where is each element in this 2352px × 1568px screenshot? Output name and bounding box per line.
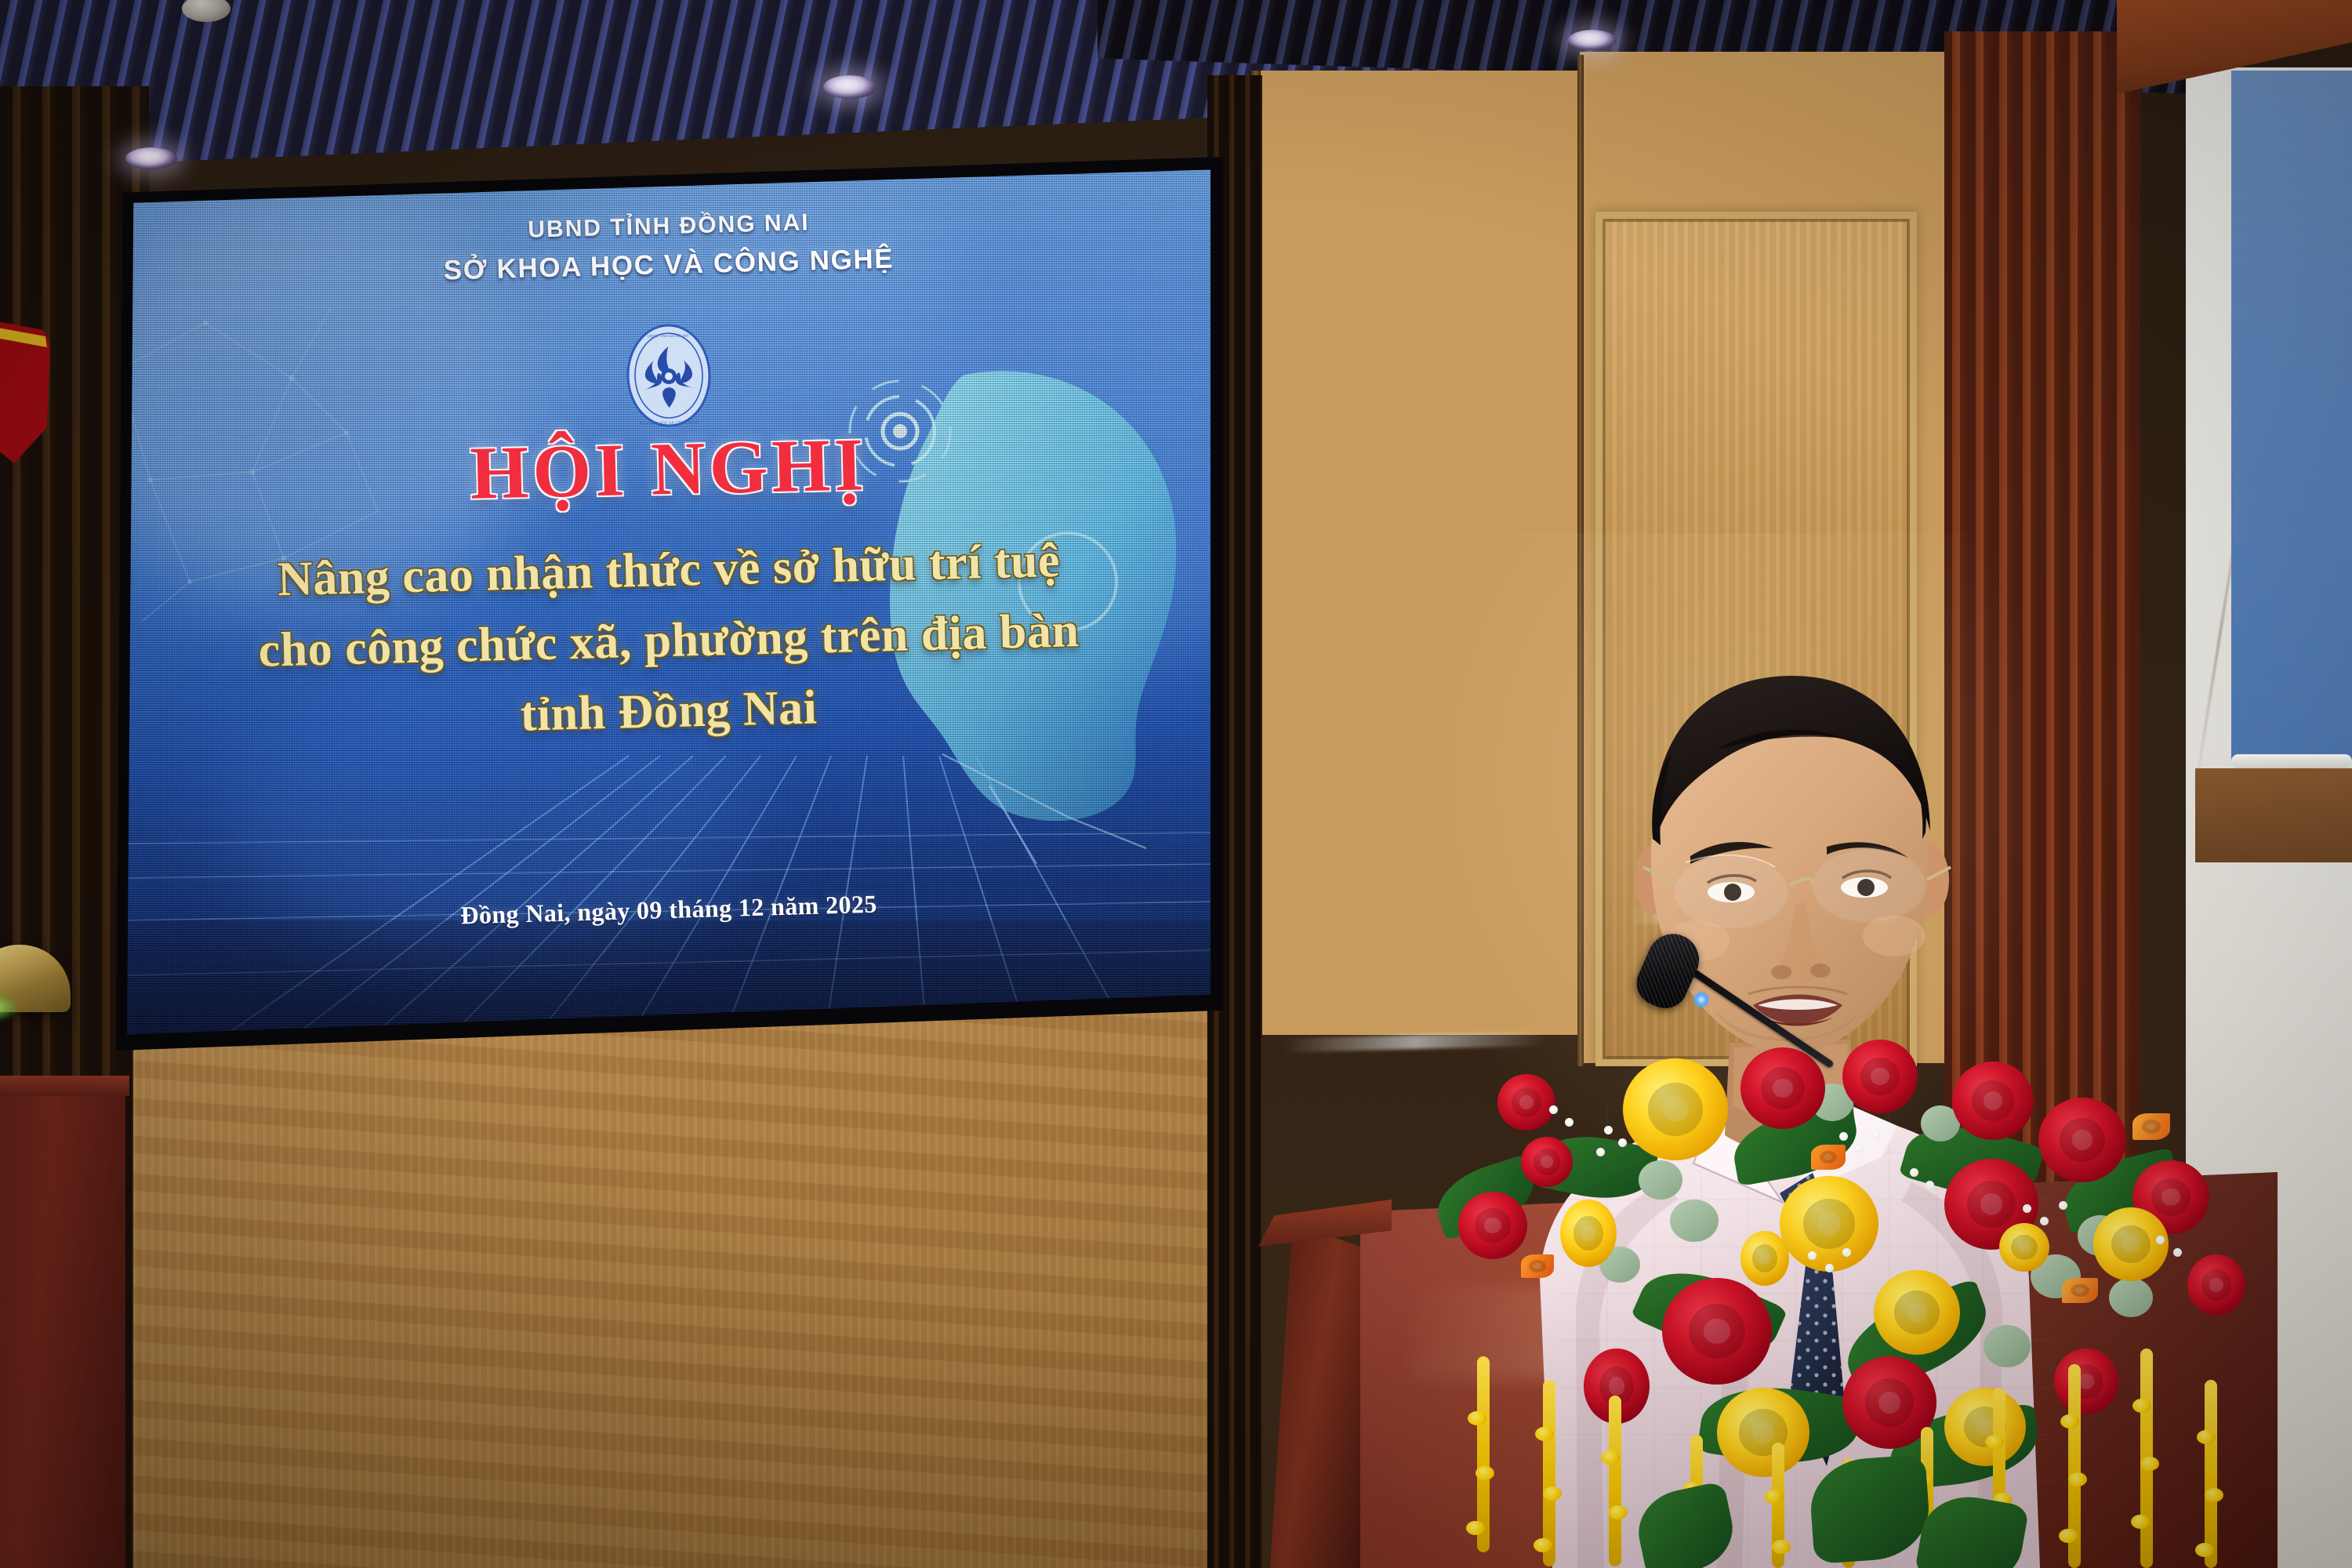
red-rose xyxy=(1662,1278,1772,1385)
babys-breath xyxy=(2059,1201,2067,1210)
wood-wall-panel-lower xyxy=(133,1004,1231,1568)
microphone-indicator-led xyxy=(1693,992,1709,1007)
yellow-rose xyxy=(1780,1176,1878,1272)
red-rose xyxy=(1521,1137,1573,1187)
cascade-bud xyxy=(2195,1543,2214,1557)
cascade-bud xyxy=(1772,1540,1791,1554)
babys-breath xyxy=(1808,1251,1817,1260)
side-lectern xyxy=(0,1086,125,1568)
babys-breath xyxy=(2023,1204,2031,1213)
babys-breath xyxy=(1618,1138,1627,1147)
babys-breath xyxy=(1839,1132,1848,1141)
cascade-bud xyxy=(1534,1538,1552,1552)
cascade-bud xyxy=(1466,1521,1485,1535)
cascade-bud xyxy=(2131,1515,2150,1529)
babys-breath xyxy=(2173,1248,2182,1257)
cascade-bud xyxy=(1468,1411,1486,1425)
babys-breath xyxy=(1872,1131,1881,1139)
babys-breath xyxy=(1565,1118,1573,1127)
leaf xyxy=(1808,1454,1933,1564)
yellow-rose xyxy=(1999,1223,2049,1272)
babys-breath xyxy=(2156,1236,2165,1244)
cascade-bud xyxy=(1985,1435,2004,1449)
eucalyptus-leaf xyxy=(1670,1200,1719,1242)
babys-breath xyxy=(2040,1217,2049,1225)
cascade-bud xyxy=(2197,1430,2216,1444)
yellow-rose xyxy=(1740,1231,1789,1286)
babys-breath xyxy=(1910,1168,1918,1177)
yellow-rose xyxy=(2093,1207,2169,1281)
orange-accent-flower xyxy=(1521,1254,1554,1278)
red-rose xyxy=(1458,1192,1527,1259)
cascade-bud xyxy=(2140,1457,2159,1471)
recessed-downlight xyxy=(125,147,177,169)
cascade-bud xyxy=(2068,1472,2087,1486)
cascade-bud xyxy=(2059,1529,2078,1543)
cascade-stem xyxy=(1609,1396,1621,1566)
yellow-rose xyxy=(1560,1200,1617,1267)
babys-breath xyxy=(1825,1264,1834,1272)
orange-accent-flower xyxy=(2132,1113,2170,1140)
window-lower-opening xyxy=(2195,768,2352,862)
red-rose xyxy=(2038,1098,2126,1182)
eucalyptus-leaf xyxy=(1639,1160,1682,1200)
cascade-bud xyxy=(1475,1466,1494,1480)
cascade-bud xyxy=(2205,1488,2223,1502)
yellow-rose xyxy=(1717,1388,1809,1477)
cascade-bud xyxy=(2132,1399,2151,1413)
babys-breath xyxy=(1842,1248,1851,1257)
red-rose xyxy=(1842,1040,1918,1113)
orange-accent-flower xyxy=(2062,1278,2098,1303)
podium-flower-arrangement xyxy=(1403,1019,2281,1568)
led-presentation-screen[interactable]: UBND TỈNH ĐỒNG NAI SỞ KHOA HỌC VÀ CÔNG N… xyxy=(127,166,1210,1038)
babys-breath xyxy=(1549,1105,1558,1114)
red-rose xyxy=(1952,1062,2034,1140)
recessed-downlight xyxy=(823,75,877,99)
cascade-bud xyxy=(1609,1505,1628,1519)
side-lectern-top xyxy=(0,1076,129,1096)
dong-nai-science-technology-emblem: UBND TỈNH ĐỒNG NAI SỞ KHOA HỌC VÀ CÔNG N… xyxy=(622,319,716,432)
eucalyptus-leaf xyxy=(2109,1278,2153,1317)
babys-breath xyxy=(1926,1181,1934,1189)
cascade-bud xyxy=(1535,1427,1554,1441)
cascade-bud xyxy=(1601,1450,1620,1465)
conference-room-scene: UBND TỈNH ĐỒNG NAI SỞ KHOA HỌC VÀ CÔNG N… xyxy=(0,0,2352,1568)
recessed-downlight xyxy=(1568,30,1617,50)
babys-breath xyxy=(1604,1126,1613,1134)
babys-breath xyxy=(1855,1145,1864,1153)
red-rose xyxy=(1740,1047,1825,1129)
cascade-bud xyxy=(1764,1490,1783,1504)
svg-text:UBND TỈNH ĐỒNG NAI: UBND TỈNH ĐỒNG NAI xyxy=(647,333,688,339)
cascade-stem xyxy=(2205,1380,2217,1568)
vietnam-flag xyxy=(0,310,55,482)
red-rose xyxy=(2187,1254,2245,1316)
red-rose xyxy=(2054,1348,2118,1414)
yellow-rose xyxy=(1944,1388,2026,1466)
orange-accent-flower xyxy=(1811,1145,1846,1170)
window-roller-blind[interactable] xyxy=(2231,71,2352,760)
yellow-rose xyxy=(1623,1058,1728,1160)
cascade-bud xyxy=(2060,1414,2079,1428)
leaf xyxy=(1631,1481,1740,1568)
cascade-bud xyxy=(1543,1486,1562,1501)
blind-bottom-rail[interactable] xyxy=(2231,754,2352,768)
yellow-rose xyxy=(1874,1270,1960,1355)
eucalyptus-leaf xyxy=(1984,1325,2031,1367)
babys-breath xyxy=(1596,1148,1605,1156)
red-rose xyxy=(1497,1074,1555,1131)
